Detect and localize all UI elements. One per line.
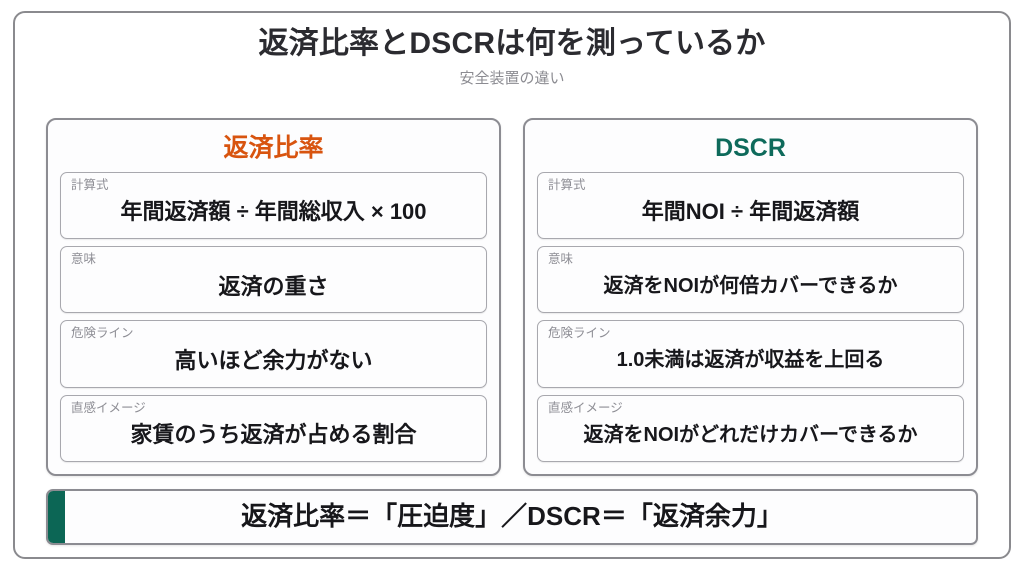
panel-heading-repayment-ratio: 返済比率 <box>60 130 487 172</box>
row-card-intuitive-image: 直感イメージ 家賃のうち返済が占める割合 <box>60 395 487 462</box>
title-block: 返済比率とDSCRは何を測っているか 安全装置の違い <box>0 26 1024 88</box>
row-value-intuitive-image-dscr: 返済をNOIがどれだけカバーできるか <box>548 417 953 453</box>
row-card-meaning-dscr: 意味 返済をNOIが何倍カバーできるか <box>537 246 964 313</box>
footer-summary-text: 返済比率＝「圧迫度」／DSCR＝「返済余力」 <box>65 491 976 543</box>
row-label-formula: 計算式 <box>71 178 476 194</box>
slide-canvas: 返済比率とDSCRは何を測っているか 安全装置の違い 返済比率 計算式 年間返済… <box>0 0 1024 572</box>
row-label-meaning-dscr: 意味 <box>548 252 953 268</box>
row-value-intuitive-image: 家賃のうち返済が占める割合 <box>71 417 476 453</box>
row-label-danger-line-dscr: 危険ライン <box>548 326 953 342</box>
row-label-danger-line: 危険ライン <box>71 326 476 342</box>
panel-dscr: DSCR 計算式 年間NOI ÷ 年間返済額 意味 返済をNOIが何倍カバーでき… <box>523 118 978 476</box>
row-label-formula-dscr: 計算式 <box>548 178 953 194</box>
panel-rows-repayment-ratio: 計算式 年間返済額 ÷ 年間総収入 × 100 意味 返済の重さ 危険ライン 高… <box>60 172 487 462</box>
page-title: 返済比率とDSCRは何を測っているか <box>0 26 1024 62</box>
row-value-meaning: 返済の重さ <box>71 269 476 305</box>
row-card-danger-line-dscr: 危険ライン 1.0未満は返済が収益を上回る <box>537 320 964 387</box>
comparison-columns: 返済比率 計算式 年間返済額 ÷ 年間総収入 × 100 意味 返済の重さ 危険… <box>46 118 978 476</box>
panel-repayment-ratio: 返済比率 計算式 年間返済額 ÷ 年間総収入 × 100 意味 返済の重さ 危険… <box>46 118 501 476</box>
footer-accent-stripe <box>48 491 65 543</box>
row-value-formula: 年間返済額 ÷ 年間総収入 × 100 <box>71 194 476 230</box>
row-label-intuitive-image-dscr: 直感イメージ <box>548 401 953 417</box>
row-label-meaning: 意味 <box>71 252 476 268</box>
row-value-formula-dscr: 年間NOI ÷ 年間返済額 <box>548 194 953 230</box>
row-card-intuitive-image-dscr: 直感イメージ 返済をNOIがどれだけカバーできるか <box>537 395 964 462</box>
row-value-danger-line: 高いほど余力がない <box>71 343 476 379</box>
row-value-danger-line-dscr: 1.0未満は返済が収益を上回る <box>548 343 953 379</box>
row-card-danger-line: 危険ライン 高いほど余力がない <box>60 320 487 387</box>
row-value-meaning-dscr: 返済をNOIが何倍カバーできるか <box>548 269 953 305</box>
row-label-intuitive-image: 直感イメージ <box>71 401 476 417</box>
panel-rows-dscr: 計算式 年間NOI ÷ 年間返済額 意味 返済をNOIが何倍カバーできるか 危険… <box>537 172 964 462</box>
row-card-formula-dscr: 計算式 年間NOI ÷ 年間返済額 <box>537 172 964 239</box>
row-card-formula: 計算式 年間返済額 ÷ 年間総収入 × 100 <box>60 172 487 239</box>
panel-heading-dscr: DSCR <box>537 130 964 172</box>
row-card-meaning: 意味 返済の重さ <box>60 246 487 313</box>
page-subtitle: 安全装置の違い <box>0 70 1024 88</box>
footer-summary-bar: 返済比率＝「圧迫度」／DSCR＝「返済余力」 <box>46 489 978 545</box>
